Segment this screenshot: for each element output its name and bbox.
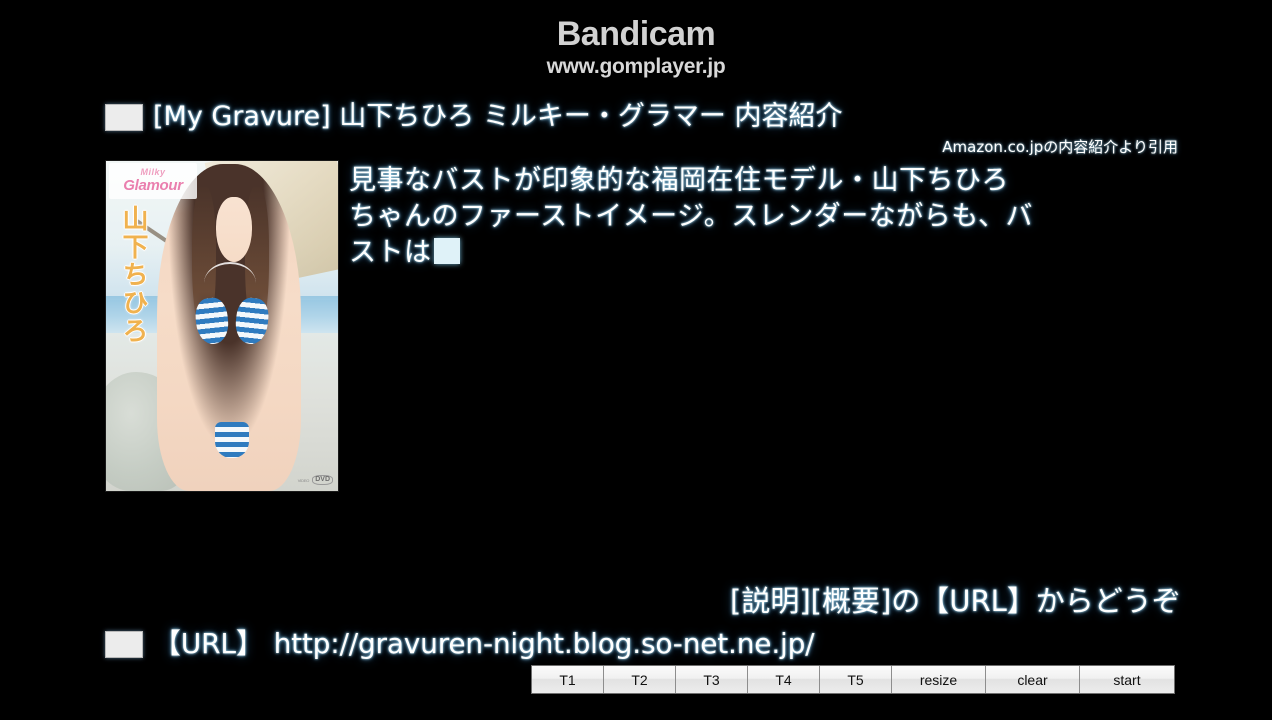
toolbar-button-t3[interactable]: T3 [676, 666, 748, 693]
cover-model-figure [157, 164, 301, 491]
cover-bikini-bottom [215, 422, 250, 458]
censor-square-icon [434, 238, 460, 264]
cover-face [216, 197, 252, 262]
description-text: 見事なバストが印象的な福岡在住モデル・山下ちひろ ちゃんのファーストイメージ。ス… [349, 163, 1189, 271]
toolbar-button-clear[interactable]: clear [986, 666, 1080, 693]
cover-bikini-cup-right [234, 297, 270, 346]
description-line-3: ストは [349, 235, 1189, 271]
toolbar-button-t4[interactable]: T4 [748, 666, 820, 693]
bottom-toolbar: T1 T2 T3 T4 T5 resize clear start [531, 665, 1175, 694]
dvd-logo-icon: DVD [312, 475, 333, 485]
cover-bikini-top [196, 298, 268, 344]
toolbar-button-resize[interactable]: resize [892, 666, 986, 693]
page-title: [My Gravure] 山下ちひろ ミルキー・グラマー 内容紹介 [105, 100, 842, 134]
url-row: 【URL】 http://gravuren-night.blog.so-net.… [105, 626, 814, 662]
description-line-2: ちゃんのファーストイメージ。スレンダーながらも、バ [349, 199, 1189, 235]
watermark-subtitle: www.gomplayer.jp [0, 54, 1272, 80]
dvd-cover-image: Milky Glamour 山下ちひろ VIDEO DVD [105, 160, 339, 492]
toolbar-button-t5[interactable]: T5 [820, 666, 892, 693]
cover-model-name: 山下ちひろ [114, 205, 148, 345]
video-frame: Bandicam www.gomplayer.jp [My Gravure] 山… [0, 0, 1272, 720]
toolbar-button-start[interactable]: start [1080, 666, 1174, 693]
cover-bikini-cup-left [194, 297, 230, 346]
cover-dvd-note: VIDEO [298, 478, 309, 483]
source-credit: Amazon.co.jpの内容紹介より引用 [942, 138, 1178, 157]
promo-text: [説明][概要]の【URL】からどうぞ [730, 583, 1181, 619]
bandicam-watermark: Bandicam www.gomplayer.jp [0, 14, 1272, 80]
description-line-1: 見事なバストが印象的な福岡在住モデル・山下ちひろ [349, 163, 1189, 199]
toolbar-button-t1[interactable]: T1 [532, 666, 604, 693]
description-line-3-text: ストは [349, 237, 432, 268]
cover-logo-line2: Glamour [123, 178, 183, 194]
page-title-text: [My Gravure] 山下ちひろ ミルキー・グラマー 内容紹介 [153, 101, 842, 133]
url-value[interactable]: http://gravuren-night.blog.so-net.ne.jp/ [274, 627, 815, 661]
tofu-square-icon [105, 104, 143, 131]
cover-series-logo: Milky Glamour [109, 163, 197, 199]
cover-dvd-badge: VIDEO DVD [298, 475, 333, 485]
tofu-square-icon [105, 631, 143, 658]
url-label: 【URL】 [153, 627, 264, 661]
toolbar-button-t2[interactable]: T2 [604, 666, 676, 693]
watermark-title: Bandicam [0, 14, 1272, 54]
